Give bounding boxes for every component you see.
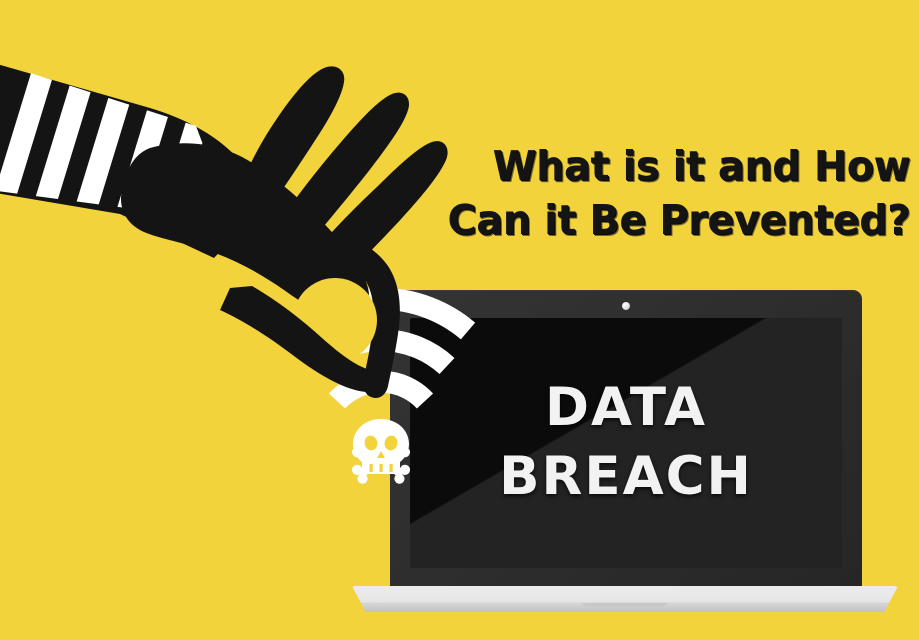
thief-hand-group xyxy=(0,0,919,640)
data-breach-poster: DATA BREACH xyxy=(0,0,919,640)
headline-line-2: Can it Be Prevented? xyxy=(425,200,910,242)
headline-line-1: What is it and How xyxy=(425,146,910,188)
page-title: What is it and How Can it Be Prevented? xyxy=(410,146,910,242)
